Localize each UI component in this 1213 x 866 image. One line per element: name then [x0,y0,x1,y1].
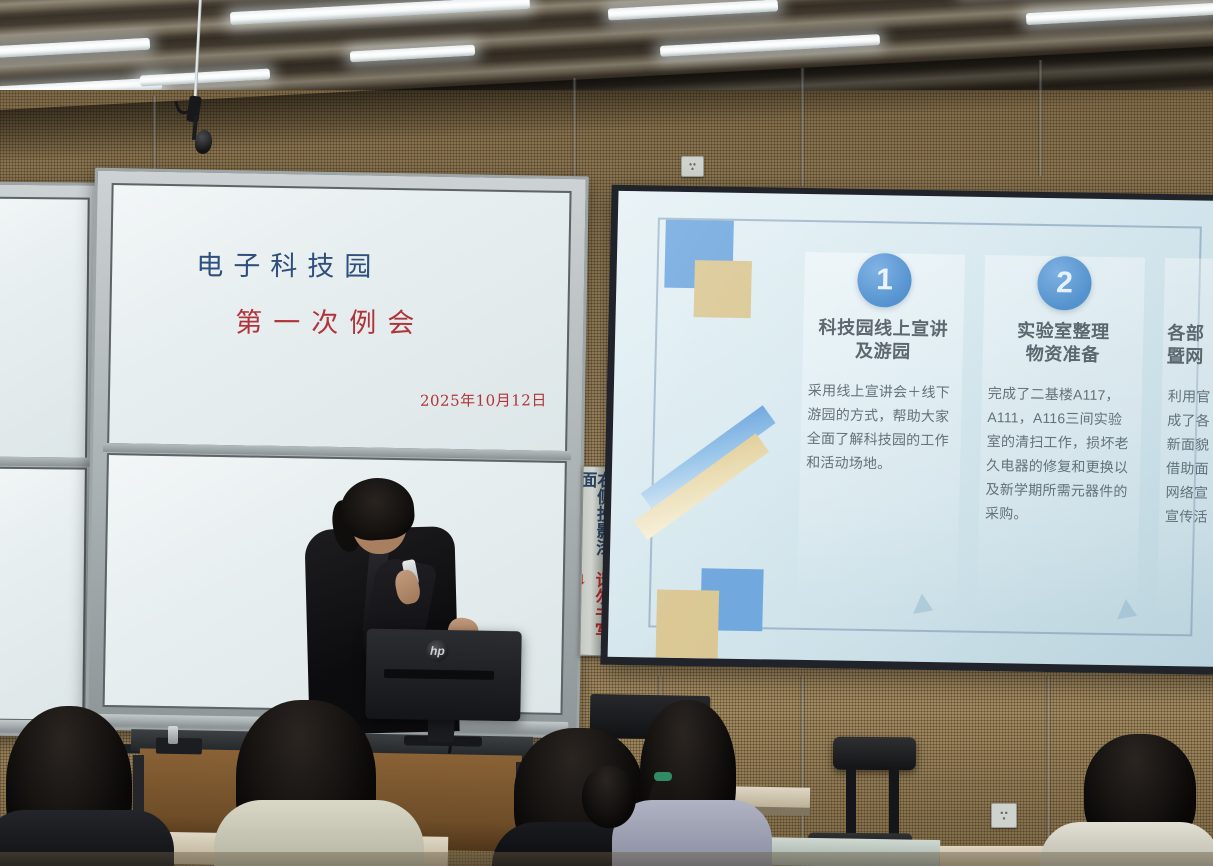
lower-shadow-band [0,852,1213,866]
presentation-slide: 1 科技园线上宣讲 及游园 采用线上宣讲会＋线下游园的方式，帮助大家全面了解科技… [608,191,1213,667]
lectern-control-panel[interactable] [156,738,202,755]
monitor-vent-slot [384,669,494,680]
hp-logo-icon: hp [426,640,448,662]
wall-panel-seam [800,68,805,186]
column-2-heading: 实验室整理 物资准备 [983,319,1144,368]
whiteboard-title: 电子科技园 [196,243,381,283]
chair-backrest[interactable] [833,737,916,771]
whiteboard-writing-surface[interactable]: 电子科技园 第一次例会 2025年10月12日 [107,183,572,453]
whiteboard-secondary-lower[interactable] [0,466,87,721]
outlet-holes [999,809,1010,822]
whiteboard-rail [0,456,91,466]
deco-square-tan-top [694,260,752,318]
power-outlet[interactable] [991,803,1017,828]
column-1-body: 采用线上宣讲会＋线下游园的方式，帮助大家全面了解科技园的工作和活动场地。 [800,378,962,477]
whiteboard-subtitle: 第一次例会 [235,301,425,341]
monitor-hp: hp [365,629,522,722]
lectern-knob[interactable] [168,726,178,744]
classroom-photo: 多 分 电子科技园 第一次例会 2025年10月12日 右侧投影漆面 请勿书写→ [0,0,1213,866]
wall-panel-seam [1038,60,1043,176]
chair-post [846,768,856,838]
slide-column-1: 1 科技园线上宣讲 及游园 采用线上宣讲会＋线下游园的方式，帮助大家全面了解科技… [800,252,965,477]
column-1-heading: 科技园线上宣讲 及游园 [803,316,964,365]
wall-switch-upper[interactable] [681,156,704,177]
column-2-body: 完成了二基楼A117，A111，A116三间实验室的清扫工作，损坏老久电器的修复… [979,381,1142,528]
hair-tie-icon [654,772,672,781]
audience-head-5 [582,766,636,828]
slide-column-2: 2 实验室整理 物资准备 完成了二基楼A117，A111，A116三间实验室的清… [979,255,1145,528]
slide-column-3: 各部 暨网 利用官 成了各 新面貌 借助面 网络宣 宣传活 [1159,258,1213,531]
column-3-heading: 各部 暨网 [1163,322,1213,371]
projection-screen: 1 科技园线上宣讲 及游园 采用线上宣讲会＋线下游园的方式，帮助大家全面了解科技… [600,185,1213,675]
chair-post-right [889,768,899,838]
whiteboard-date: 2025年10月12日 [420,389,547,410]
outlet-holes [688,161,697,172]
deco-square-tan-bottom [656,590,720,659]
column-3-body: 利用官 成了各 新面貌 借助面 网络宣 宣传活 [1159,384,1213,531]
whiteboard-secondary-upper[interactable]: 多 分 [0,196,90,459]
